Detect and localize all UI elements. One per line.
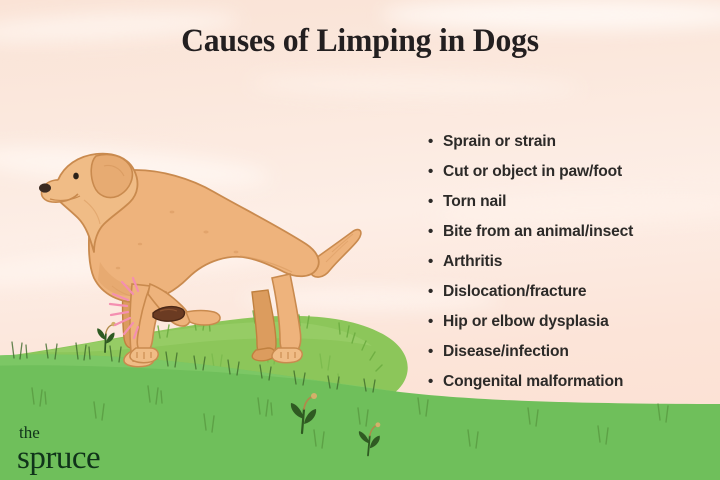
bullet-icon: • [428, 254, 443, 269]
causes-list: • Sprain or strain • Cut or object in pa… [428, 133, 708, 403]
dog-eye [73, 173, 79, 180]
bullet-icon: • [428, 374, 443, 389]
list-item-label: Torn nail [443, 193, 506, 211]
list-item-label: Bite from an animal/insect [443, 223, 633, 241]
bullet-icon: • [428, 164, 443, 179]
list-item: • Dislocation/fracture [428, 283, 708, 313]
brand-logo-line1: the [19, 424, 100, 441]
bullet-icon: • [428, 134, 443, 149]
list-item-label: Hip or elbow dysplasia [443, 313, 609, 331]
page-title: Causes of Limping in Dogs [14, 23, 705, 60]
list-item: • Congenital malformation [428, 373, 708, 403]
list-item-label: Congenital malformation [443, 373, 623, 391]
dog-tail [310, 230, 361, 278]
bullet-icon: • [428, 224, 443, 239]
list-item: • Cut or object in paw/foot [428, 163, 708, 193]
list-item: • Torn nail [428, 193, 708, 223]
list-item-label: Disease/infection [443, 343, 569, 361]
bullet-icon: • [428, 194, 443, 209]
dog-nose [39, 183, 51, 192]
dog-rear-leg-far [252, 290, 276, 361]
bullet-icon: • [428, 344, 443, 359]
list-item-label: Arthritis [443, 253, 502, 271]
list-item-label: Sprain or strain [443, 133, 556, 151]
brand-logo: the spruce [17, 424, 100, 475]
bullet-icon: • [428, 284, 443, 299]
infographic-canvas: Causes of Limping in Dogs • Sprain or st… [0, 0, 720, 480]
list-item-label: Dislocation/fracture [443, 283, 586, 301]
list-item: • Disease/infection [428, 343, 708, 373]
list-item: • Bite from an animal/insect [428, 223, 708, 253]
bullet-icon: • [428, 314, 443, 329]
list-item-label: Cut or object in paw/foot [443, 163, 622, 181]
list-item: • Sprain or strain [428, 133, 708, 163]
brand-logo-line2: spruce [17, 442, 100, 475]
list-item: • Hip or elbow dysplasia [428, 313, 708, 343]
list-item: • Arthritis [428, 253, 708, 283]
